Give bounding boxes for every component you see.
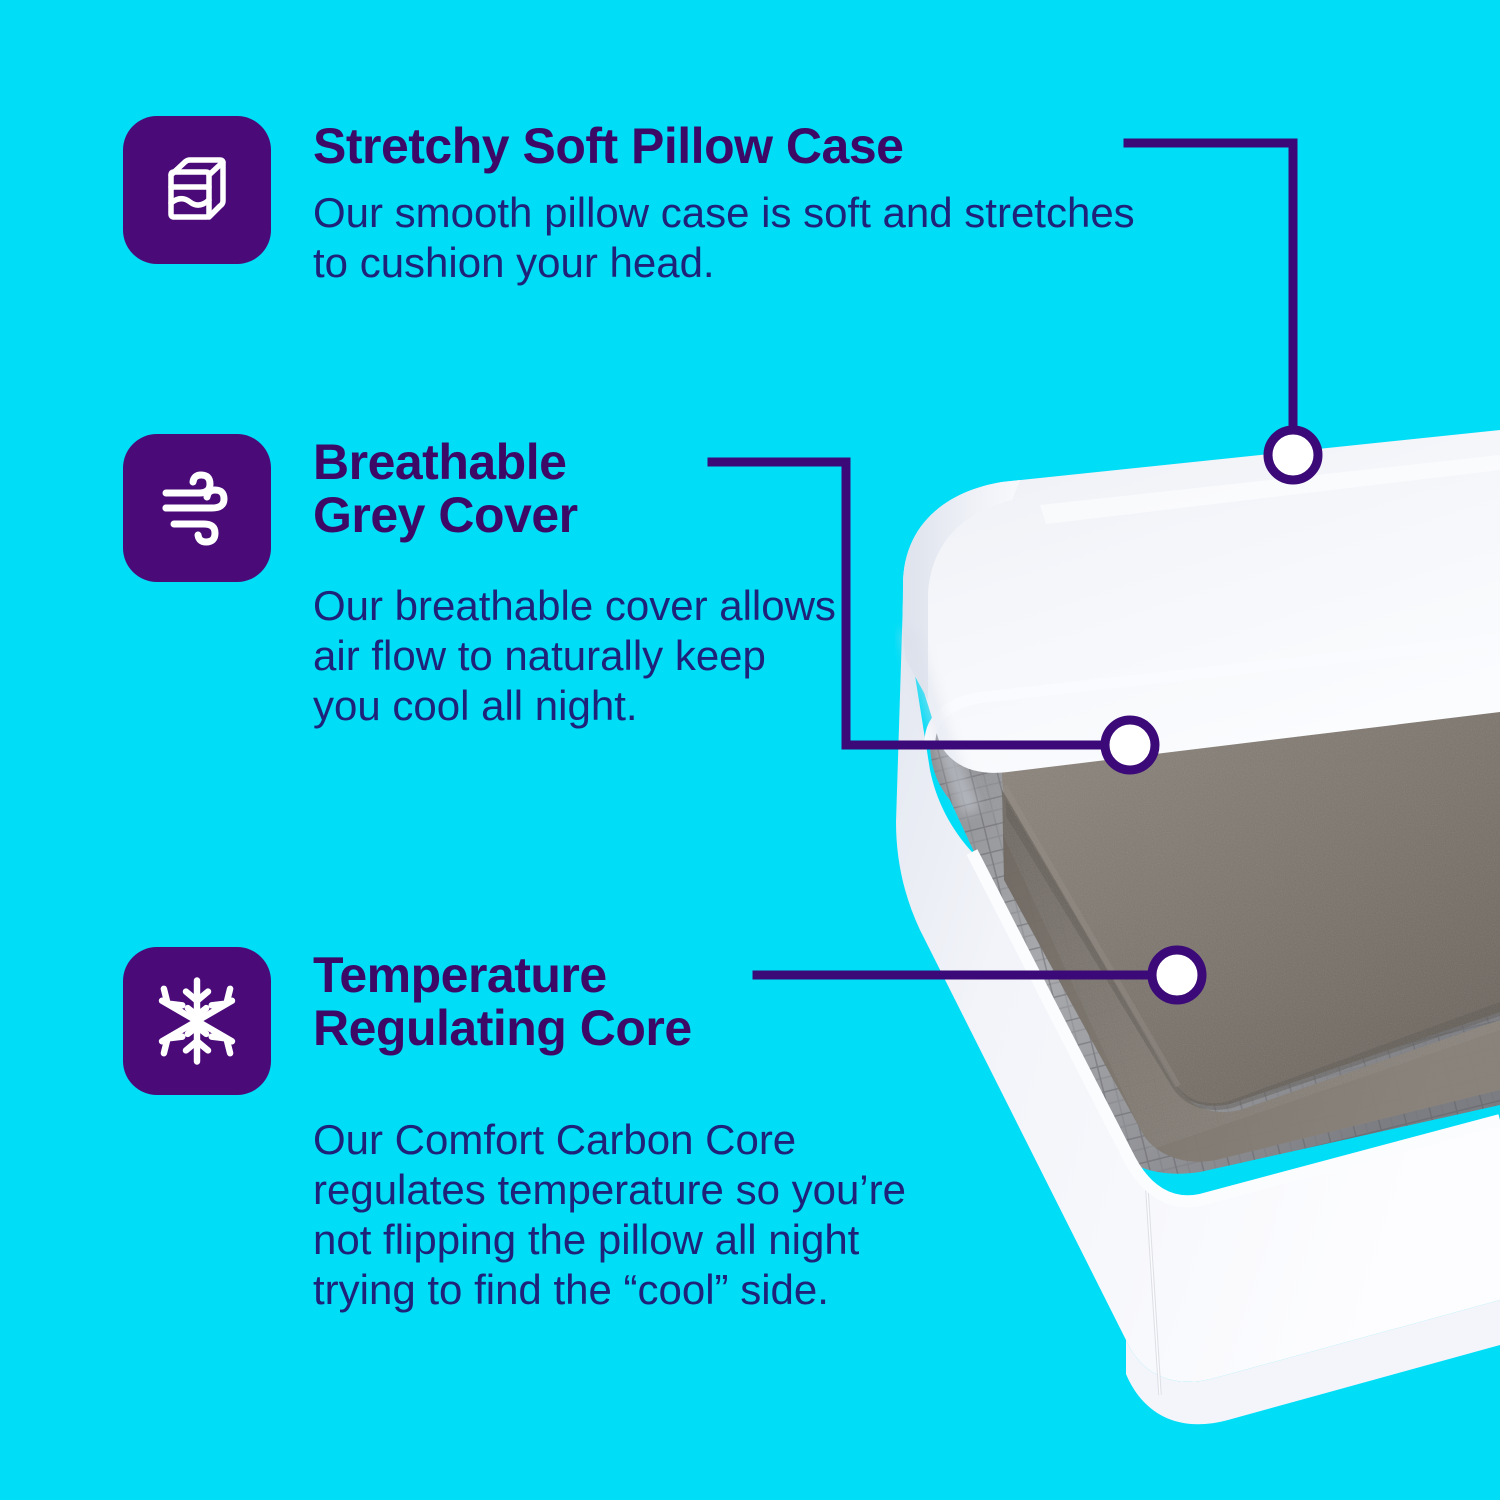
feature-title: Stretchy Soft Pillow Case [313,120,903,173]
cube-layers-icon-tile [123,116,271,264]
feature-body: Our Comfort Carbon Core regulates temper… [313,1115,953,1315]
callout-dot-grey-cover[interactable] [1105,720,1155,770]
callout-dot-pillow-case[interactable] [1268,430,1318,480]
callout-dot-carbon-core[interactable] [1152,950,1202,1000]
feature-body: Our smooth pillow case is soft and stret… [313,188,1143,288]
snowflake-icon [151,975,243,1067]
wind-icon-tile [123,434,271,582]
wind-icon [152,463,242,553]
connector-pillow-case [1128,143,1318,480]
cube-layers-icon [154,147,240,233]
feature-body: Our breathable cover allows air flow to … [313,581,843,731]
feature-title: Temperature Regulating Core [313,949,692,1055]
snowflake-icon-tile [123,947,271,1095]
connector-carbon-core [757,950,1202,1000]
infographic-canvas: Stretchy Soft Pillow Case Our smooth pil… [0,0,1500,1500]
feature-title: Breathable Grey Cover [313,436,578,542]
